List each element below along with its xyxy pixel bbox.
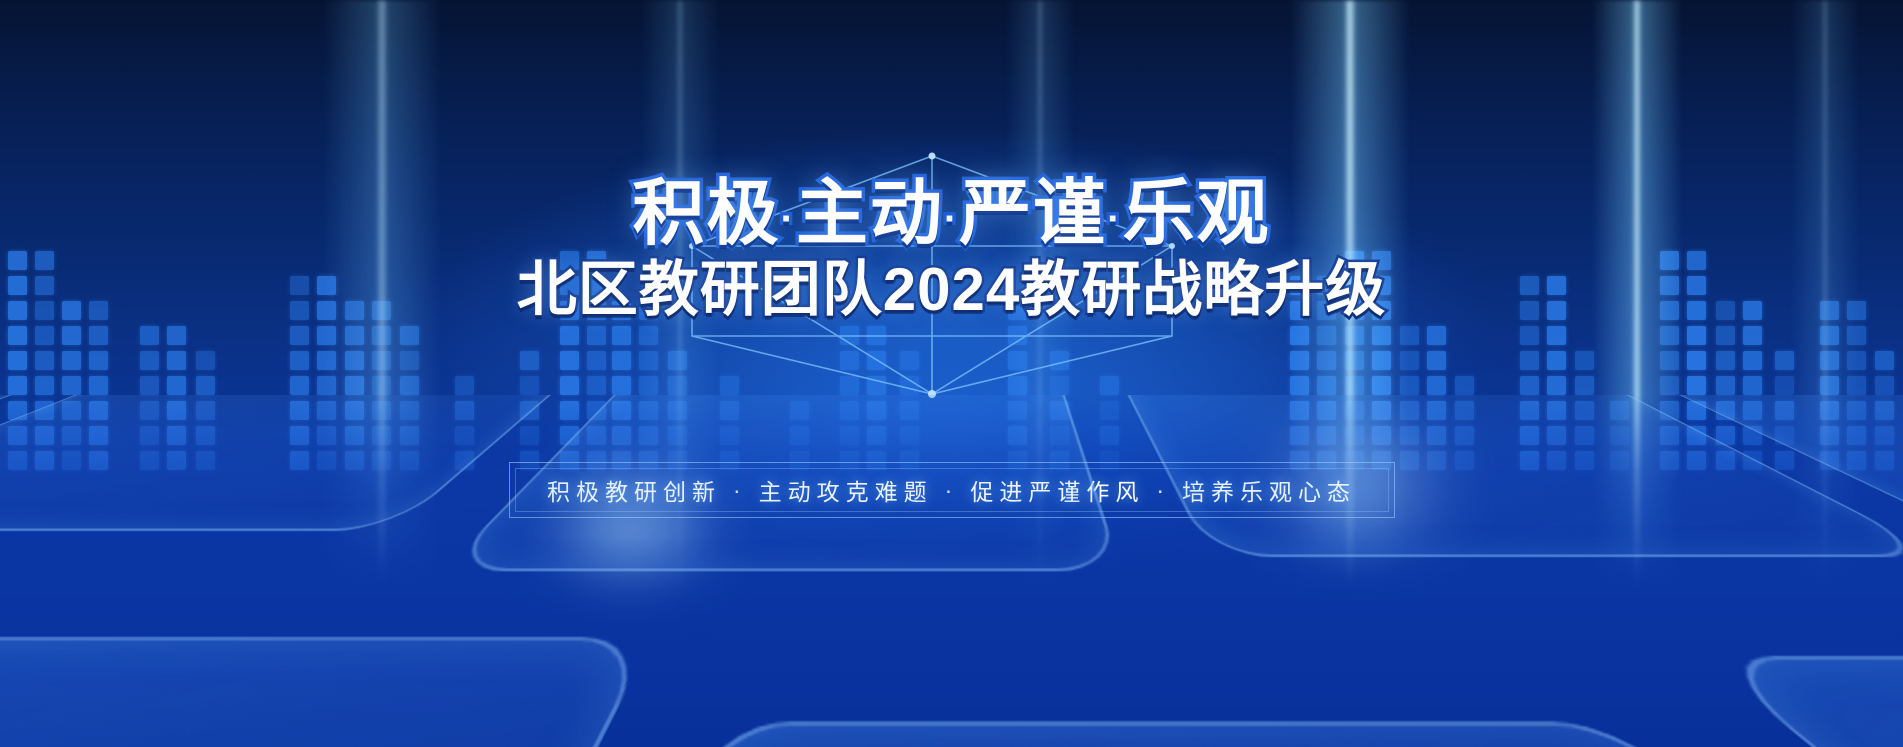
headline-separator: ·: [780, 197, 795, 241]
headline-separator: ·: [944, 197, 959, 241]
skyline-window: [520, 376, 539, 395]
skyline-window: [1317, 326, 1336, 345]
skyline-window: [1660, 351, 1679, 370]
skyline-window: [1775, 351, 1794, 370]
skyline-window: [612, 326, 631, 345]
headline-part-4: 乐观: [1123, 174, 1271, 254]
skyline-window: [1427, 326, 1446, 345]
skyline-window: [290, 376, 309, 395]
skyline-window: [345, 376, 364, 395]
skyline-window: [317, 376, 336, 395]
skyline-window: [35, 351, 54, 370]
skyline-window: [1687, 326, 1706, 345]
skyline-window: [89, 376, 108, 395]
skyline-window: [1290, 326, 1309, 345]
skyline-window: [1820, 326, 1839, 345]
skyline-window: [317, 326, 336, 345]
skyline-window: [1875, 376, 1894, 395]
skyline-window: [1775, 376, 1794, 395]
skyline-window: [1345, 351, 1364, 370]
tagline-separator: ·: [721, 477, 759, 504]
skyline-window: [587, 326, 606, 345]
skyline-window: [167, 351, 186, 370]
skyline-window: [1372, 326, 1391, 345]
headline-part-2: 主动: [796, 174, 944, 254]
tagline-item-4: 培养乐观心态: [1182, 473, 1356, 507]
skyline-window: [1520, 376, 1539, 395]
skyline-window: [8, 376, 27, 395]
skyline-window: [317, 351, 336, 370]
skyline-window: [1317, 351, 1336, 370]
skyline-window: [290, 326, 309, 345]
skyline-window: [1716, 351, 1735, 370]
skyline-window: [372, 351, 391, 370]
skyline-window: [345, 351, 364, 370]
skyline-window: [1847, 376, 1866, 395]
skyline-window: [1345, 326, 1364, 345]
skyline-window: [1345, 376, 1364, 395]
skyline-window: [1427, 351, 1446, 370]
skyline-window: [35, 326, 54, 345]
skyline-window: [1547, 376, 1566, 395]
skyline-window: [1372, 351, 1391, 370]
skyline-window: [62, 326, 81, 345]
skyline-window: [1317, 376, 1336, 395]
skyline-window: [8, 351, 27, 370]
skyline-window: [345, 326, 364, 345]
headline-separator: ·: [1107, 197, 1122, 241]
skyline-window: [1820, 376, 1839, 395]
skyline-window: [1743, 376, 1762, 395]
skyline-window: [1716, 376, 1735, 395]
skyline-window: [290, 351, 309, 370]
tagline-item-2: 主动攻克难题: [759, 473, 933, 507]
perspective-floor: [0, 395, 1903, 747]
tagline-separator: ·: [1144, 477, 1182, 504]
skyline-window: [1427, 376, 1446, 395]
skyline-window: [1520, 326, 1539, 345]
skyline-window: [639, 326, 658, 345]
skyline-window: [587, 351, 606, 370]
skyline-window: [1372, 376, 1391, 395]
tagline-bar: 积极教研创新·主动攻克难题·促进严谨作风·培养乐观心态: [509, 462, 1395, 518]
skyline-window: [1575, 351, 1594, 370]
skyline-window: [372, 376, 391, 395]
headline-sub: 北区教研团队2024教研战略升级: [0, 260, 1903, 320]
skyline-window: [1687, 376, 1706, 395]
skyline-window: [639, 376, 658, 395]
skyline-window: [62, 351, 81, 370]
skyline-window: [1575, 376, 1594, 395]
skyline-window: [89, 326, 108, 345]
skyline-window: [1547, 351, 1566, 370]
skyline-window: [520, 351, 539, 370]
headline-main: 积极·主动·严谨·乐观: [632, 178, 1270, 250]
skyline-window: [587, 376, 606, 395]
skyline-window: [1290, 351, 1309, 370]
skyline-window: [372, 326, 391, 345]
headline-part-3: 严谨: [959, 174, 1107, 254]
skyline-window: [455, 376, 474, 395]
skyline-window: [1455, 376, 1474, 395]
skyline-window: [560, 351, 579, 370]
skyline-window: [1660, 326, 1679, 345]
skyline-window: [62, 376, 81, 395]
headline-part-1: 积极: [632, 174, 780, 254]
skyline-window: [1520, 351, 1539, 370]
skyline-window: [140, 326, 159, 345]
skyline-window: [1400, 351, 1419, 370]
skyline-window: [35, 376, 54, 395]
skyline-window: [140, 351, 159, 370]
tagline-item-3: 促进严谨作风: [970, 473, 1144, 507]
tagline-separator: ·: [933, 477, 971, 504]
skyline-window: [1743, 351, 1762, 370]
tagline-text: 积极教研创新·主动攻克难题·促进严谨作风·培养乐观心态: [509, 462, 1395, 518]
skyline-window: [1716, 326, 1735, 345]
skyline-window: [1820, 351, 1839, 370]
skyline-window: [400, 351, 419, 370]
skyline-window: [612, 376, 631, 395]
skyline-window: [1290, 376, 1309, 395]
skyline-window: [1547, 326, 1566, 345]
skyline-window: [1875, 351, 1894, 370]
skyline-window: [196, 376, 215, 395]
skyline-window: [560, 326, 579, 345]
skyline-window: [400, 376, 419, 395]
skyline-window: [1687, 351, 1706, 370]
skyline-window: [1400, 326, 1419, 345]
skyline-window: [167, 326, 186, 345]
skyline-window: [1847, 351, 1866, 370]
skyline-window: [167, 376, 186, 395]
skyline-window: [89, 351, 108, 370]
skyline-window: [196, 351, 215, 370]
skyline-window: [639, 351, 658, 370]
skyline-window: [560, 376, 579, 395]
skyline-window: [1660, 376, 1679, 395]
skyline-window: [1743, 326, 1762, 345]
skyline-window: [1847, 326, 1866, 345]
skyline-window: [1400, 376, 1419, 395]
banner-stage: 积极·主动·严谨·乐观 北区教研团队2024教研战略升级 积极教研创新·主动攻克…: [0, 0, 1903, 747]
skyline-window: [612, 351, 631, 370]
skyline-window: [400, 326, 419, 345]
tagline-item-1: 积极教研创新: [547, 473, 721, 507]
headline-block: 积极·主动·严谨·乐观 北区教研团队2024教研战略升级: [0, 178, 1903, 320]
skyline-window: [8, 326, 27, 345]
skyline-window: [140, 376, 159, 395]
